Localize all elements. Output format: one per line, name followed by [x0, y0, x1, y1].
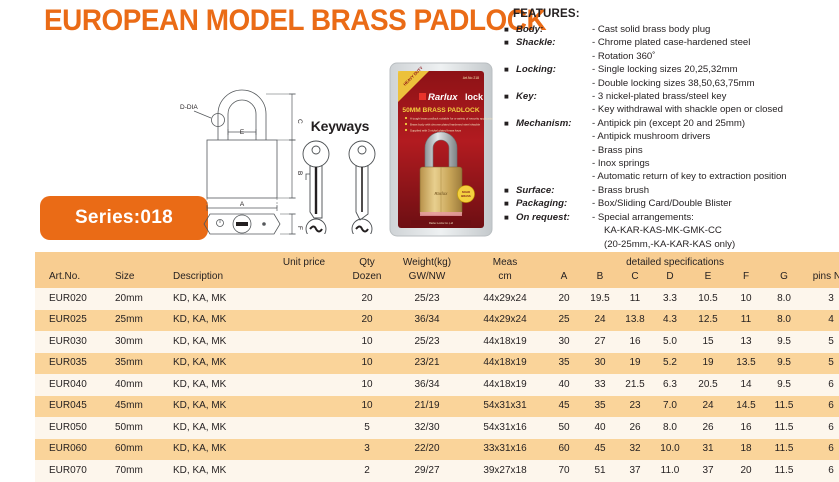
cell-dozen: 20: [343, 310, 391, 332]
cell-c: 26: [619, 417, 651, 439]
cell-e: 37: [689, 460, 727, 482]
cell-e: 10.5: [689, 288, 727, 310]
cell-dozen: 5: [343, 417, 391, 439]
cell-unit-price: [265, 417, 343, 439]
cell-c: 19: [619, 353, 651, 375]
cell-size: 50mm: [107, 417, 165, 439]
cell-unit-price: [265, 331, 343, 353]
feature-bullet-icon: ■: [503, 63, 516, 76]
cell-c: 23: [619, 396, 651, 418]
feature-row: - Rotation 360˚: [503, 50, 839, 63]
table-row[interactable]: EUR03535mmKD, KA, MK1023/2144x18x1935301…: [35, 353, 839, 375]
cell-description: KD, KA, MK: [165, 288, 265, 310]
cell-g: 9.5: [765, 331, 803, 353]
cell-d: 5.2: [651, 353, 689, 375]
cell-a: 30: [547, 331, 581, 353]
cell-art-no: EUR040: [35, 374, 107, 396]
cell-unit-price: [265, 288, 343, 310]
cell-g: 11.5: [765, 417, 803, 439]
th-unit-price-empty: [265, 270, 343, 288]
cell-unit-price: [265, 374, 343, 396]
table-row[interactable]: EUR07070mmKD, KA, MK229/2739x27x18705137…: [35, 460, 839, 482]
keyways-section: Keyways: [288, 118, 392, 240]
cell-pins: 5: [803, 353, 839, 375]
cell-g: 11.5: [765, 439, 803, 461]
table-header: Unit price Qty Weight(kg) Meas detailed …: [35, 252, 839, 288]
feature-row: ■On request:- Special arrangements:: [503, 211, 839, 224]
th-e: E: [689, 270, 727, 288]
features-section: FEATURES: ■Body:- Cast solid brass body …: [503, 8, 839, 251]
cell-gw-nw: 25/23: [391, 331, 463, 353]
cell-meas: 44x18x19: [463, 353, 547, 375]
cell-art-no: EUR030: [35, 331, 107, 353]
cell-art-no: EUR020: [35, 288, 107, 310]
specifications-table-wrap: Unit price Qty Weight(kg) Meas detailed …: [35, 252, 839, 482]
cell-e: 24: [689, 396, 727, 418]
cell-unit-price: [265, 353, 343, 375]
cell-dozen: 2: [343, 460, 391, 482]
feature-row: (20-25mm,-KA-KAR-KAS only): [503, 238, 839, 251]
label-hardened: HARDENED HARDENED: [227, 82, 322, 84]
feature-value: - Cast solid brass body plug: [592, 23, 710, 36]
specifications-table: Unit price Qty Weight(kg) Meas detailed …: [35, 252, 839, 482]
cell-gw-nw: 25/23: [391, 288, 463, 310]
cell-c: 11: [619, 288, 651, 310]
cell-f: 14: [727, 374, 765, 396]
cell-d: 8.0: [651, 417, 689, 439]
cell-description: KD, KA, MK: [165, 310, 265, 332]
cell-art-no: EUR035: [35, 353, 107, 375]
th-b: B: [581, 270, 619, 288]
package-bullet-3: Supplied with 3 nickel plated brass keys: [410, 128, 462, 132]
label-d-dia: D-DIA: [180, 104, 198, 111]
cell-a: 70: [547, 460, 581, 482]
feature-value: - Single locking sizes 20,25,32mm: [592, 63, 738, 76]
feature-value: - Inox springs: [592, 157, 650, 170]
cell-a: 35: [547, 353, 581, 375]
feature-bullet-icon: ■: [503, 184, 516, 197]
cell-b: 24: [581, 310, 619, 332]
cell-pins: 6: [803, 374, 839, 396]
cell-dozen: 10: [343, 331, 391, 353]
cell-g: 8.0: [765, 288, 803, 310]
cell-dozen: 20: [343, 288, 391, 310]
cell-f: 13: [727, 331, 765, 353]
cell-e: 12.5: [689, 310, 727, 332]
cell-d: 10.0: [651, 439, 689, 461]
cell-a: 20: [547, 288, 581, 310]
cell-dozen: 3: [343, 439, 391, 461]
feature-row: - Brass pins: [503, 144, 839, 157]
th-unit-price: Unit price: [265, 252, 343, 270]
cell-description: KD, KA, MK: [165, 331, 265, 353]
th-spacer-3: [165, 252, 265, 270]
cell-meas: 33x31x16: [463, 439, 547, 461]
cell-f: 16: [727, 417, 765, 439]
cell-a: 45: [547, 396, 581, 418]
feature-row: ■Mechanism:- Antipick pin (except 20 and…: [503, 117, 839, 130]
cell-b: 35: [581, 396, 619, 418]
cell-e: 31: [689, 439, 727, 461]
feature-bullet-icon: ■: [503, 36, 516, 49]
feature-row: ■Packaging:- Box/Sliding Card/Double Bli…: [503, 197, 839, 210]
th-dozen: Dozen: [343, 270, 391, 288]
cell-size: 60mm: [107, 439, 165, 461]
cell-description: KD, KA, MK: [165, 417, 265, 439]
table-row[interactable]: EUR02525mmKD, KA, MK2036/3444x29x2425241…: [35, 310, 839, 332]
cell-c: 16: [619, 331, 651, 353]
feature-label: Shackle:: [516, 36, 592, 49]
cell-d: 4.3: [651, 310, 689, 332]
cell-unit-price: [265, 310, 343, 332]
feature-row: ■Key:- 3 nickel-plated brass/steel key: [503, 90, 839, 103]
th-f: F: [727, 270, 765, 288]
cell-d: 6.3: [651, 374, 689, 396]
cell-gw-nw: 36/34: [391, 374, 463, 396]
th-pins: pins No.: [803, 270, 839, 288]
th-description: Description: [165, 270, 265, 288]
cell-a: 40: [547, 374, 581, 396]
cell-a: 50: [547, 417, 581, 439]
page-title: EUROPEAN MODEL BRASS PADLOCK: [44, 4, 435, 38]
feature-value: - Brass brush: [592, 184, 649, 197]
cell-pins: 6: [803, 460, 839, 482]
cell-art-no: EUR070: [35, 460, 107, 482]
cell-c: 13.8: [619, 310, 651, 332]
table-body: EUR02020mmKD, KA, MK2025/2344x29x242019.…: [35, 288, 839, 482]
cell-size: 70mm: [107, 460, 165, 482]
cell-size: 20mm: [107, 288, 165, 310]
cell-a: 60: [547, 439, 581, 461]
th-meas: Meas: [463, 252, 547, 270]
cell-c: 37: [619, 460, 651, 482]
feature-row: - Automatic return of key to extraction …: [503, 170, 839, 183]
feature-value: - Key withdrawal with shackle open or cl…: [592, 103, 783, 116]
cell-f: 18: [727, 439, 765, 461]
feature-row: - Antipick mushroom drivers: [503, 130, 839, 143]
package-brand-suffix: lock: [465, 92, 484, 102]
cell-meas: 44x18x19: [463, 331, 547, 353]
th-c: C: [619, 270, 651, 288]
cell-e: 19: [689, 353, 727, 375]
feature-row: KA-KAR-KAS-MK-GMK-CC: [503, 224, 839, 237]
cell-f: 10: [727, 288, 765, 310]
cell-e: 20.5: [689, 374, 727, 396]
table-row[interactable]: EUR04545mmKD, KA, MK1021/1954x31x3145352…: [35, 396, 839, 418]
cell-g: 9.5: [765, 374, 803, 396]
feature-label: Body:: [516, 23, 592, 36]
cell-d: 7.0: [651, 396, 689, 418]
cell-gw-nw: 36/34: [391, 310, 463, 332]
feature-value: KA-KAR-KAS-MK-GMK-CC: [592, 224, 722, 237]
th-cm: cm: [463, 270, 547, 288]
series-badge-label: Series:018: [75, 207, 173, 229]
cell-meas: 54x31x31: [463, 396, 547, 418]
th-art-no: Art.No.: [35, 270, 107, 288]
cell-meas: 44x29x24: [463, 310, 547, 332]
feature-value: - Double locking sizes 38,50,63,75mm: [592, 77, 755, 90]
cell-b: 30: [581, 353, 619, 375]
cell-pins: 6: [803, 396, 839, 418]
feature-label: Mechanism:: [516, 117, 592, 130]
cell-d: 11.0: [651, 460, 689, 482]
feature-value: - Special arrangements:: [592, 211, 694, 224]
cell-g: 11.5: [765, 460, 803, 482]
cell-b: 19.5: [581, 288, 619, 310]
package-art-no: Art.No 218: [463, 76, 479, 80]
feature-label: Packaging:: [516, 197, 592, 210]
cell-gw-nw: 22/20: [391, 439, 463, 461]
cell-art-no: EUR060: [35, 439, 107, 461]
cell-f: 20: [727, 460, 765, 482]
feature-label: Locking:: [516, 63, 592, 76]
package-seal-line1: SOLID: [462, 190, 470, 194]
label-a: A: [240, 201, 245, 208]
th-size: Size: [107, 270, 165, 288]
cell-c: 21.5: [619, 374, 651, 396]
table-header-row-bottom: Art.No. Size Description Dozen GW/NW cm …: [35, 270, 839, 288]
cell-pins: 4: [803, 310, 839, 332]
cell-b: 51: [581, 460, 619, 482]
th-d: D: [651, 270, 689, 288]
table-row[interactable]: EUR03030mmKD, KA, MK1025/2344x18x1930271…: [35, 331, 839, 353]
package-bullet-2: Brass body with chrome plated hardened s…: [410, 122, 480, 126]
table-row[interactable]: EUR06060mmKD, KA, MK322/2033x31x16604532…: [35, 439, 839, 461]
keyways-title: Keyways: [288, 118, 392, 134]
th-spacer-2: [107, 252, 165, 270]
cell-meas: 39x27x18: [463, 460, 547, 482]
feature-bullet-icon: ■: [503, 197, 516, 210]
cell-f: 13.5: [727, 353, 765, 375]
package-footer: Rarlux Locks Co.,Ltd: [429, 221, 454, 225]
feature-value: - Antipick pin (except 20 and 25mm): [592, 117, 745, 130]
cell-gw-nw: 29/27: [391, 460, 463, 482]
package-subtitle: 50MM BRASS PADLOCK: [402, 107, 479, 114]
table-row[interactable]: EUR02020mmKD, KA, MK2025/2344x29x242019.…: [35, 288, 839, 310]
feature-bullet-icon: ■: [503, 211, 516, 224]
catalog-page: EUROPEAN MODEL BRASS PADLOCK FEATURES: ■…: [0, 0, 839, 478]
cell-meas: 44x29x24: [463, 288, 547, 310]
feature-label: Key:: [516, 90, 592, 103]
table-header-row-top: Unit price Qty Weight(kg) Meas detailed …: [35, 252, 839, 270]
cell-pins: 6: [803, 439, 839, 461]
product-photo-svg: HEAVY DUTY Art.No 218 Rarlux lock 50MM B…: [389, 62, 493, 237]
feature-value: (20-25mm,-KA-KAR-KAS only): [592, 238, 735, 251]
cell-b: 45: [581, 439, 619, 461]
cell-pins: 5: [803, 331, 839, 353]
cell-description: KD, KA, MK: [165, 353, 265, 375]
cell-b: 33: [581, 374, 619, 396]
cell-f: 11: [727, 310, 765, 332]
feature-row: - Inox springs: [503, 157, 839, 170]
product-package-photo: HEAVY DUTY Art.No 218 Rarlux lock 50MM B…: [389, 62, 493, 237]
th-g: G: [765, 270, 803, 288]
th-detailed-specifications: detailed specifications: [547, 252, 803, 270]
cell-art-no: EUR025: [35, 310, 107, 332]
cell-art-no: EUR045: [35, 396, 107, 418]
feature-row: ■Shackle:- Chrome plated case-hardened s…: [503, 36, 839, 49]
features-list: ■Body:- Cast solid brass body plug■Shack…: [503, 23, 839, 251]
cell-size: 30mm: [107, 331, 165, 353]
cell-g: 11.5: [765, 396, 803, 418]
package-seal-line2: BRASS: [461, 194, 471, 198]
cell-unit-price: [265, 396, 343, 418]
feature-value: - 3 nickel-plated brass/steel key: [592, 90, 726, 103]
th-a: A: [547, 270, 581, 288]
th-gw-nw: GW/NW: [391, 270, 463, 288]
cell-art-no: EUR050: [35, 417, 107, 439]
package-bullet-1: A tough brass padlock suitable for a var…: [410, 116, 493, 120]
feature-row: ■Locking:- Single locking sizes 20,25,32…: [503, 63, 839, 76]
feature-row: - Double locking sizes 38,50,63,75mm: [503, 77, 839, 90]
feature-value: - Brass pins: [592, 144, 643, 157]
package-brand: Rarlux: [428, 92, 458, 103]
cell-dozen: 10: [343, 353, 391, 375]
cell-gw-nw: 32/30: [391, 417, 463, 439]
cell-g: 8.0: [765, 310, 803, 332]
feature-bullet-icon: ■: [503, 117, 516, 130]
cell-unit-price: [265, 439, 343, 461]
cell-pins: 6: [803, 417, 839, 439]
cell-c: 32: [619, 439, 651, 461]
padlock-body-brand: Rarlux: [434, 191, 448, 196]
feature-value: - Chrome plated case-hardened steel: [592, 36, 750, 49]
th-spacer-4: [803, 252, 839, 270]
cell-description: KD, KA, MK: [165, 396, 265, 418]
cell-a: 25: [547, 310, 581, 332]
feature-label: On request:: [516, 211, 592, 224]
cell-gw-nw: 23/21: [391, 353, 463, 375]
feature-bullet-icon: ■: [503, 23, 516, 36]
feature-label: Surface:: [516, 184, 592, 197]
th-weight: Weight(kg): [391, 252, 463, 270]
cell-pins: 3: [803, 288, 839, 310]
cell-size: 40mm: [107, 374, 165, 396]
cell-g: 9.5: [765, 353, 803, 375]
cell-gw-nw: 21/19: [391, 396, 463, 418]
feature-value: - Automatic return of key to extraction …: [592, 170, 787, 183]
label-e: E: [240, 129, 245, 136]
keyways-svg: [288, 134, 392, 234]
cell-dozen: 10: [343, 374, 391, 396]
cell-dozen: 10: [343, 396, 391, 418]
cell-e: 15: [689, 331, 727, 353]
cell-e: 26: [689, 417, 727, 439]
th-spacer-1: [35, 252, 107, 270]
th-qty: Qty: [343, 252, 391, 270]
cell-meas: 44x18x19: [463, 374, 547, 396]
cell-description: KD, KA, MK: [165, 374, 265, 396]
cell-meas: 54x31x16: [463, 417, 547, 439]
cell-description: KD, KA, MK: [165, 439, 265, 461]
cell-b: 40: [581, 417, 619, 439]
feature-row: - Key withdrawal with shackle open or cl…: [503, 103, 839, 116]
cell-f: 14.5: [727, 396, 765, 418]
cell-unit-price: [265, 460, 343, 482]
features-heading: FEATURES:: [513, 8, 839, 20]
cell-size: 35mm: [107, 353, 165, 375]
cell-size: 25mm: [107, 310, 165, 332]
feature-row: ■Surface:- Brass brush: [503, 184, 839, 197]
feature-bullet-icon: ■: [503, 90, 516, 103]
cell-size: 45mm: [107, 396, 165, 418]
feature-value: - Box/Sliding Card/Double Blister: [592, 197, 732, 210]
cell-d: 3.3: [651, 288, 689, 310]
cell-description: KD, KA, MK: [165, 460, 265, 482]
feature-value: - Antipick mushroom drivers: [592, 130, 710, 143]
cell-b: 27: [581, 331, 619, 353]
table-row[interactable]: EUR05050mmKD, KA, MK532/3054x31x16504026…: [35, 417, 839, 439]
cell-d: 5.0: [651, 331, 689, 353]
table-row[interactable]: EUR04040mmKD, KA, MK1036/3444x18x1940332…: [35, 374, 839, 396]
feature-row: ■Body:- Cast solid brass body plug: [503, 23, 839, 36]
feature-value: - Rotation 360˚: [592, 50, 655, 63]
